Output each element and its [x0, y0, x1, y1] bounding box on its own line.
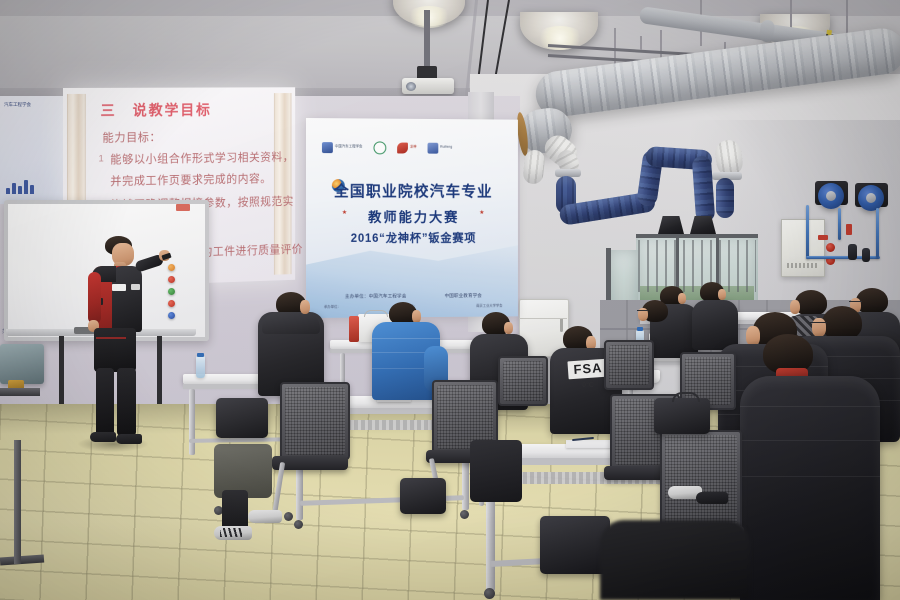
- laptop-bag[interactable]: [216, 398, 268, 438]
- presenter-badge-right: [131, 284, 140, 290]
- cabinet-seam: [519, 318, 567, 319]
- welding-equipment: [0, 344, 44, 384]
- presenter-arm-down: [88, 272, 101, 324]
- presenter-leg: [117, 368, 136, 436]
- blue-air-line: [806, 205, 809, 259]
- eyeglasses-icon: [810, 322, 827, 326]
- banner-coorg-left: 承办单位：: [324, 304, 341, 309]
- chair-backrest[interactable]: [280, 382, 350, 460]
- table-caster: [460, 510, 469, 519]
- slide-line: 能够以小组合作形式学习相关资料，: [110, 149, 294, 167]
- attendee-shoe: [248, 510, 282, 523]
- attendee-body-black-puffer-front: [740, 376, 880, 600]
- presenter-badge: [112, 284, 126, 291]
- banner-organizer-line: 主办单位：中国汽车工程学会 中国职业教育学会: [324, 293, 503, 300]
- whiteboard-magnet[interactable]: [168, 300, 175, 307]
- banner-star-icon: ★: [479, 211, 484, 216]
- bucket-handle: [364, 310, 388, 317]
- window-frame-top: [636, 234, 758, 238]
- bag-strap: [672, 392, 700, 402]
- fume-extraction-arm-right: [716, 178, 734, 218]
- classroom-scene: 汽车工程学会 范大学。 三 说教学目标 能力目标： 1 能够以小组合作形式学习相…: [0, 0, 900, 600]
- cabinet-handle[interactable]: [560, 318, 563, 332]
- slide-subtitle: 能力目标：: [102, 129, 161, 145]
- hose-reel-hub: [866, 193, 876, 203]
- attendee-face-profile: [746, 326, 760, 346]
- attendee-hood: [262, 312, 320, 334]
- table-caster: [484, 588, 495, 599]
- shoe-stripes: [220, 528, 242, 537]
- left-banner-logo-bars: [6, 180, 34, 194]
- banner-logo: [373, 141, 386, 154]
- laptop-bag[interactable]: [654, 398, 710, 434]
- attendee-face-profile: [812, 318, 826, 337]
- table-leg: [189, 389, 195, 455]
- puffer-seam: [372, 338, 440, 339]
- eyeglasses-icon: [849, 301, 862, 305]
- banner-title-line2: 教师能力大赛: [326, 206, 501, 226]
- attendee-body: [692, 300, 738, 350]
- projector-lens: [406, 82, 416, 91]
- welding-bench: [0, 388, 40, 396]
- banner-logo: Ruifeng: [427, 142, 452, 153]
- conduit-hanger: [640, 36, 642, 50]
- whiteboard-magnet[interactable]: [168, 276, 175, 283]
- red-thermos: [349, 316, 359, 342]
- chair-backrest[interactable]: [660, 430, 742, 530]
- backpack[interactable]: [400, 478, 446, 514]
- attendee-head: [795, 290, 827, 316]
- presenter-belt-stripe: [96, 337, 126, 339]
- blue-air-line: [876, 208, 879, 258]
- banner-title-line3: 2016“龙神杯”钣金赛项: [326, 230, 501, 246]
- presenter-shoe: [116, 434, 142, 444]
- table-caster: [294, 520, 303, 529]
- floor-rail-post: [14, 440, 21, 564]
- banner-logo: 龙神: [397, 142, 417, 153]
- chair-backrest[interactable]: [498, 356, 548, 406]
- panel-label: [787, 263, 817, 268]
- foreground-attendee-blur: [600, 520, 750, 600]
- whiteboard-magnet[interactable]: [168, 312, 175, 319]
- water-bottle[interactable]: [196, 356, 205, 378]
- banner-logo: 中国汽车工程学会: [322, 142, 363, 153]
- presenter-leg: [96, 368, 114, 436]
- chair-mesh: [503, 361, 543, 401]
- eyeglasses-icon: [637, 310, 648, 314]
- banner-coorg-right: 南京工业大学学会: [476, 303, 502, 308]
- banner-logo-label: 龙神: [410, 146, 417, 150]
- attendee-face-profile: [504, 322, 513, 334]
- competition-banner: 中国汽车工程学会 龙神 Ruifeng 全国职业院校汽车专业 ★ 教师能力大赛 …: [306, 118, 518, 318]
- blue-air-line: [838, 208, 841, 240]
- puffer-seam: [740, 406, 880, 407]
- slide-line: 并完成工作页要求完成的内容。: [110, 170, 271, 189]
- left-banner-caption: 汽车工程学会: [4, 102, 31, 108]
- attendee-face-profile: [790, 300, 800, 314]
- electrical-panel[interactable]: [781, 219, 825, 277]
- banner-logo-label: 中国汽车工程学会: [335, 145, 363, 149]
- air-valve[interactable]: [862, 248, 870, 262]
- power-socket-red[interactable]: [826, 243, 835, 252]
- attendee-face-profile: [300, 300, 310, 314]
- fsa-jacket-text: FSA: [568, 360, 609, 378]
- whiteboard-corner-tag: [176, 204, 190, 211]
- attendee-shoe: [696, 492, 728, 504]
- chair-backrest[interactable]: [604, 340, 654, 390]
- bottle-cap: [197, 353, 204, 357]
- air-valve[interactable]: [848, 244, 857, 260]
- puffer-seam: [740, 476, 880, 477]
- slide-bullet-number: 1: [99, 153, 104, 164]
- table-leg: [340, 353, 345, 385]
- slide-title: 三 说教学目标: [100, 99, 272, 121]
- banner-logo-row: 中国汽车工程学会 龙神 Ruifeng: [322, 138, 504, 157]
- fsa-jacket-subtext: 0°C: [570, 382, 606, 389]
- bottle-cap: [637, 327, 643, 331]
- window-bars: [638, 240, 756, 292]
- whiteboard-magnet[interactable]: [168, 288, 175, 295]
- banner-title-line1: 全国职业院校汽车专业: [326, 180, 501, 201]
- whiteboard-magnet[interactable]: [168, 264, 175, 271]
- banner-organizer-left: 主办单位：中国汽车工程学会: [345, 293, 407, 298]
- attendee-head: [822, 306, 862, 340]
- attendee-face-profile: [718, 289, 726, 300]
- left-wall-banner: 汽车工程学会: [0, 96, 66, 204]
- paper-sheet[interactable]: [566, 440, 612, 448]
- banner-organizer-right: 中国职业教育学会: [445, 293, 482, 298]
- attendee-legs: [470, 440, 522, 502]
- presenter-trousers: [94, 328, 136, 372]
- chair-mesh: [665, 435, 737, 525]
- presenter-shoe: [90, 432, 116, 442]
- presenter-jacket-black-panel: [112, 266, 142, 332]
- chair-caster: [284, 512, 293, 521]
- chair-mesh: [609, 345, 649, 385]
- banner-logo-label: Ruifeng: [440, 146, 452, 150]
- attendee-face-profile: [678, 293, 686, 304]
- puffer-seam: [740, 440, 880, 441]
- pipe-fitting: [818, 235, 828, 240]
- chair-mesh: [285, 387, 345, 455]
- hose-reel-hub: [826, 191, 836, 201]
- socket-box-red[interactable]: [846, 224, 852, 235]
